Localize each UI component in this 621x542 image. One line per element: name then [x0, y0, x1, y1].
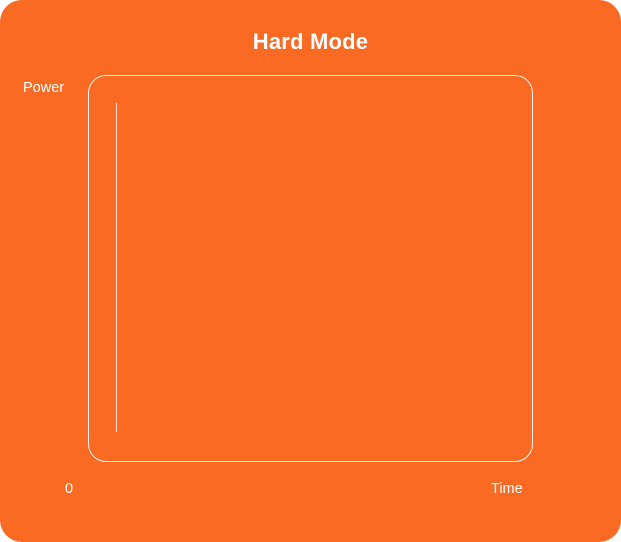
plot-frame [88, 75, 533, 462]
page-title: Hard Mode [0, 28, 621, 56]
chart-card: Hard Mode Power 0 Time [0, 0, 621, 542]
y-axis-label: Power [23, 79, 64, 97]
x-axis-label: Time [491, 480, 523, 498]
series-line-power [116, 103, 118, 432]
x-axis-origin-label: 0 [65, 480, 73, 498]
plot-area [89, 76, 534, 463]
